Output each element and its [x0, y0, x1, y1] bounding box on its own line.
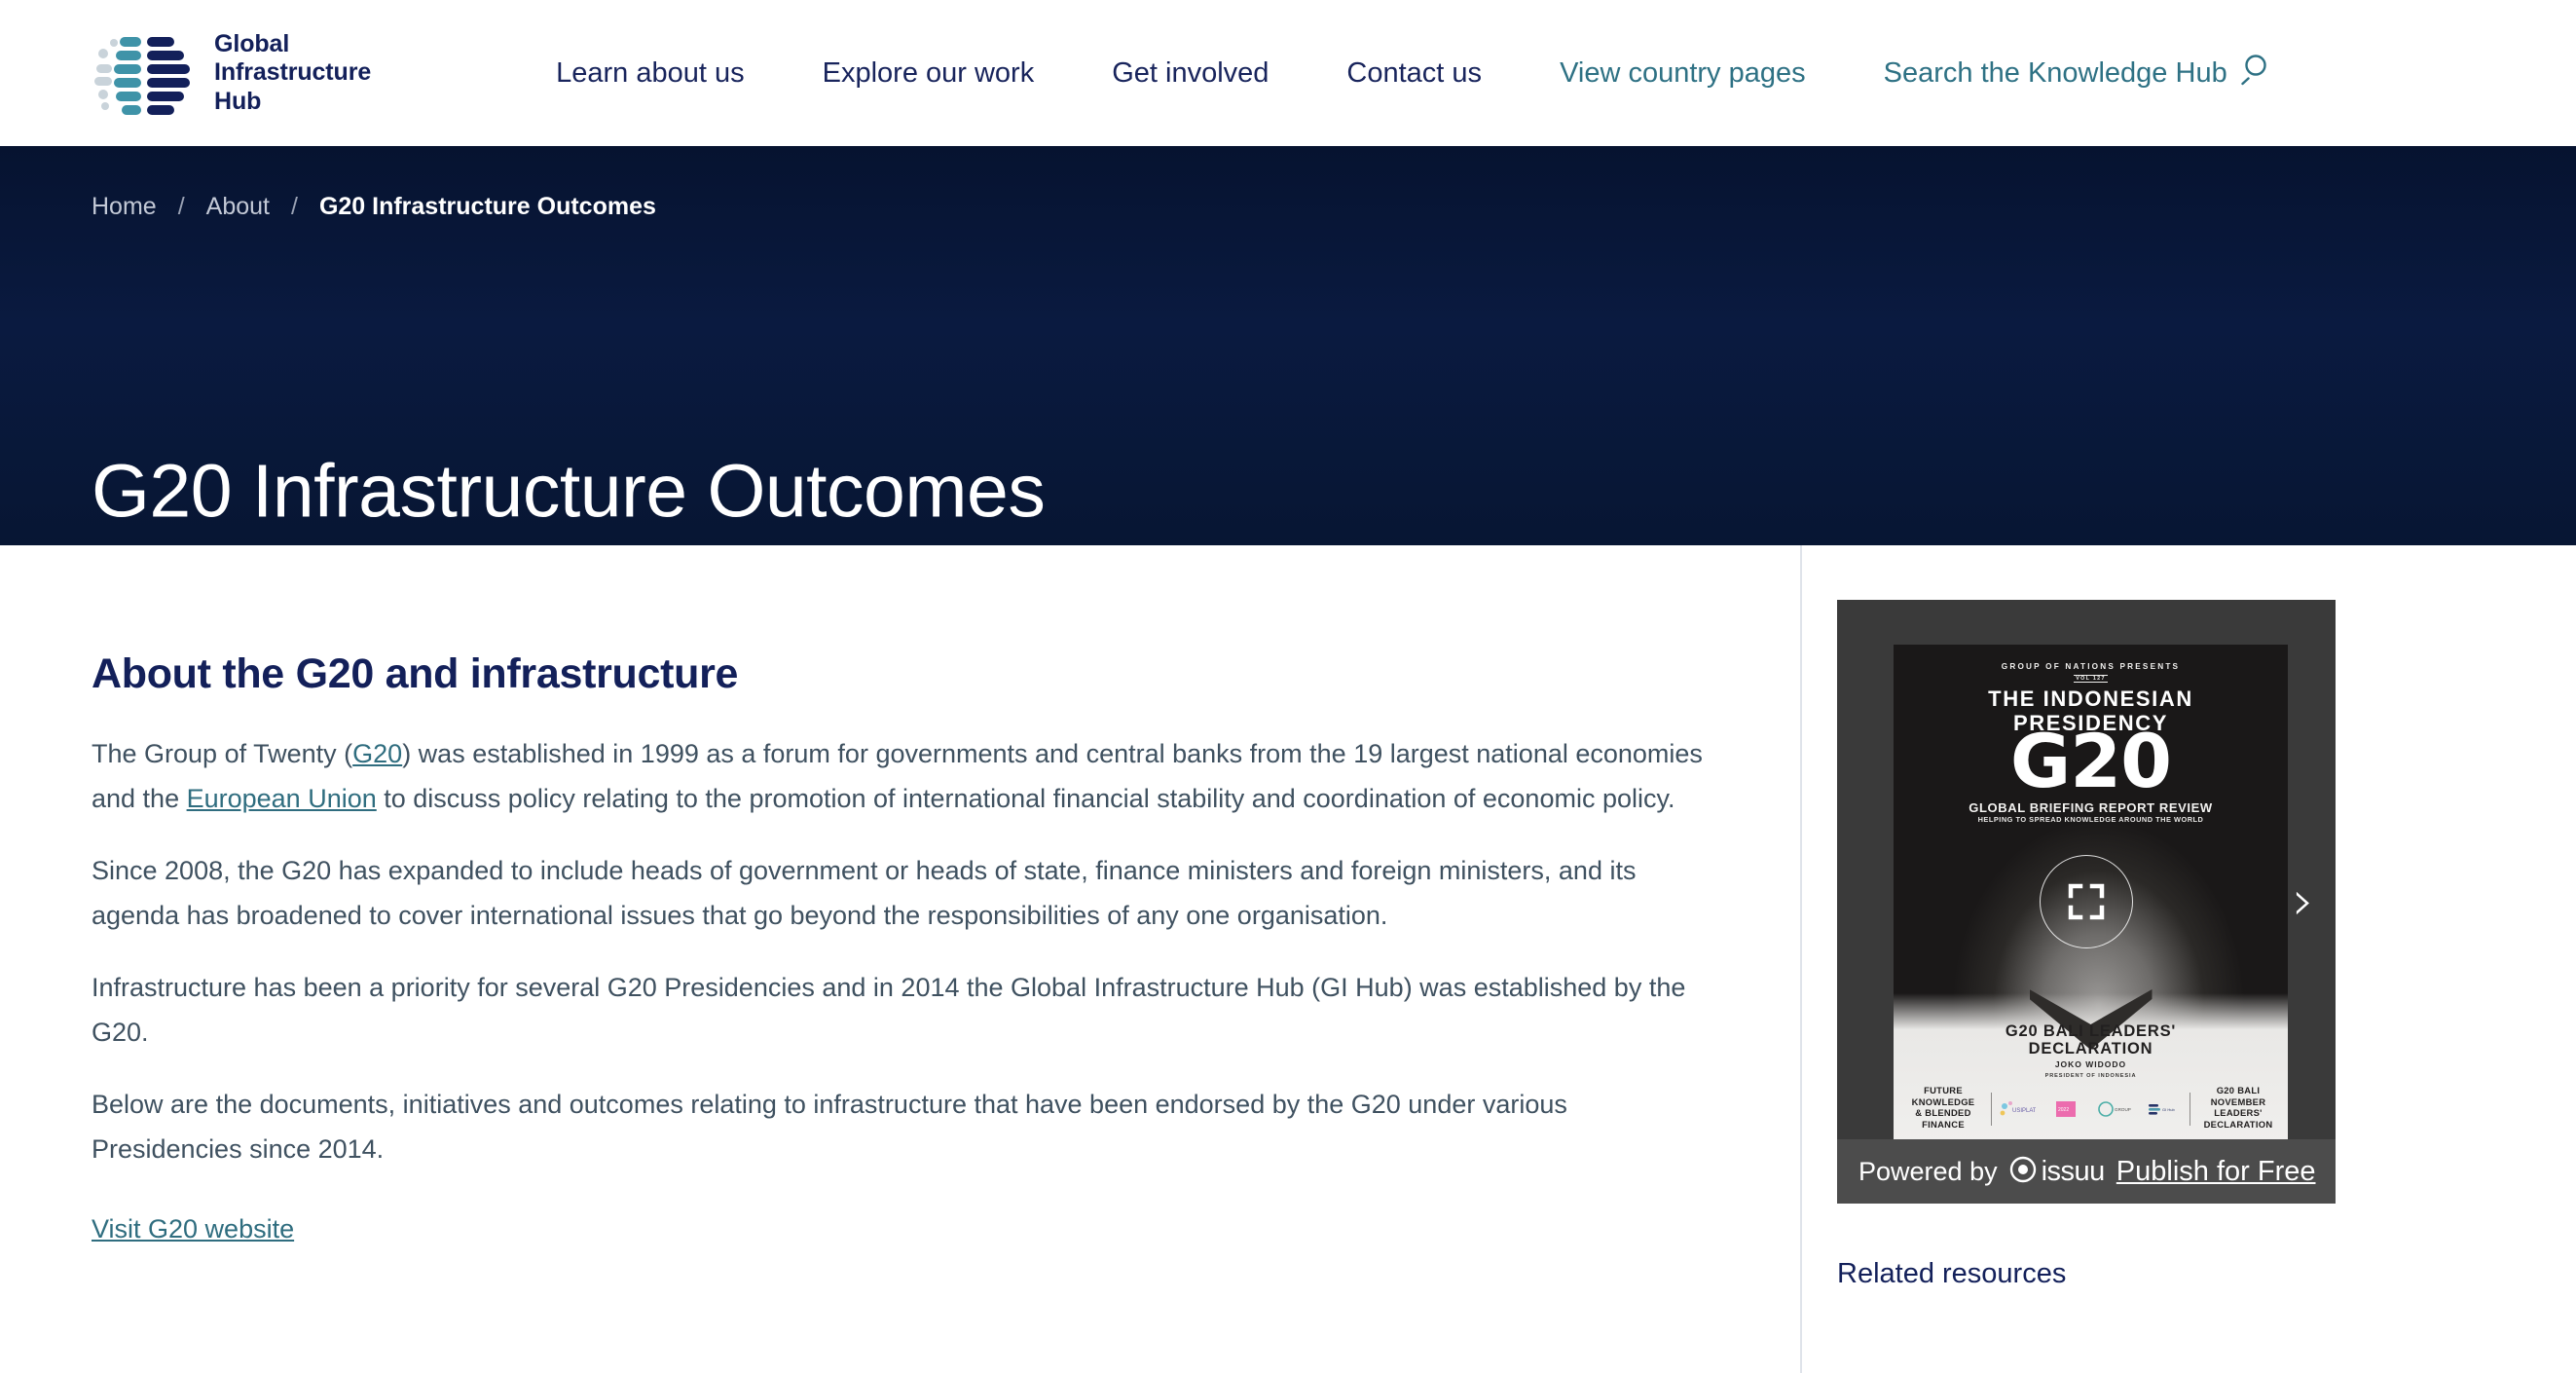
paragraph-2: Since 2008, the G20 has expanded to incl… — [92, 848, 1709, 939]
nav-item-learn-about-us[interactable]: Learn about us — [517, 57, 783, 90]
cover-g20-logotype: G20 — [1894, 730, 2288, 794]
main-column: About the G20 and infrastructure The Gro… — [0, 545, 1802, 1373]
brand-name: Global Infrastructure Hub — [214, 30, 371, 117]
breadcrumb-item-current: G20 Infrastructure Outcomes — [319, 193, 656, 221]
european-union-link[interactable]: European Union — [187, 784, 377, 813]
search-icon — [2241, 53, 2274, 93]
svg-text:USIPLAT: USIPLAT — [2012, 1108, 2036, 1114]
cover-right-tag: G20 BALI NOVEMBER LEADERS' DECLARATION — [2196, 1085, 2280, 1130]
breadcrumb-separator: / — [291, 193, 298, 221]
cover-partner-logos: USIPLAT 2022 GROUP GI Hub — [1991, 1093, 2190, 1126]
svg-text:GROUP: GROUP — [2115, 1107, 2131, 1112]
powered-by-label: Powered by — [1858, 1157, 1998, 1187]
fullscreen-icon[interactable] — [2040, 855, 2133, 948]
cover-tagline: HELPING TO SPREAD KNOWLEDGE AROUND THE W… — [1894, 815, 2288, 824]
svg-text:GI Hub: GI Hub — [2162, 1107, 2175, 1112]
svg-text:2022: 2022 — [2058, 1107, 2069, 1113]
visit-g20-website-link[interactable]: Visit G20 website — [92, 1214, 294, 1244]
paragraph-4: Below are the documents, initiatives and… — [92, 1082, 1709, 1172]
paragraph-1-part-1: The Group of Twenty ( — [92, 739, 352, 768]
breadcrumb: Home / About / G20 Infrastructure Outcom… — [92, 146, 2484, 221]
brand-logo-link[interactable]: Global Infrastructure Hub — [92, 28, 371, 118]
search-label: Search the Knowledge Hub — [1884, 57, 2227, 90]
nav-item-explore-our-work[interactable]: Explore our work — [784, 57, 1074, 90]
breadcrumb-item-about[interactable]: About — [206, 193, 270, 221]
nav-item-search-knowledge-hub[interactable]: Search the Knowledge Hub — [1845, 53, 2274, 93]
issuu-embed[interactable]: GROUP OF NATIONS PRESENTS VOL 127 THE IN… — [1837, 600, 2336, 1204]
breadcrumb-separator: / — [178, 193, 185, 221]
issuu-target-icon — [2009, 1156, 2037, 1188]
nav-item-get-involved[interactable]: Get involved — [1073, 57, 1307, 90]
nav-item-view-country-pages[interactable]: View country pages — [1521, 57, 1845, 90]
summit-logo-icon: 2022 — [2046, 1098, 2085, 1120]
breadcrumb-item-home[interactable]: Home — [92, 193, 157, 221]
cover-person-name: JOKO WIDODO — [1894, 1059, 2288, 1069]
issuu-footer-bar: Powered by issuu Publish for Free — [1837, 1139, 2336, 1204]
paragraph-1: The Group of Twenty (G20) was establishe… — [92, 731, 1709, 822]
cover-left-tag: FUTURE KNOWLEDGE & BLENDED FINANCE — [1901, 1085, 1985, 1130]
cover-subtitle: GLOBAL BRIEFING REPORT REVIEW — [1894, 800, 2288, 815]
cover-kicker: GROUP OF NATIONS PRESENTS — [1894, 662, 2288, 671]
page-title: G20 Infrastructure Outcomes — [92, 453, 1045, 532]
gi-hub-logo-icon: GI Hub — [2146, 1098, 2185, 1120]
site-header: Global Infrastructure Hub Learn about us… — [0, 0, 2576, 146]
paragraph-3: Infrastructure has been a priority for s… — [92, 965, 1709, 1056]
page-content: About the G20 and infrastructure The Gro… — [0, 545, 2576, 1373]
gi-hub-dots-logo-icon — [92, 28, 197, 118]
nav-item-contact-us[interactable]: Contact us — [1307, 57, 1521, 90]
issuu-wordmark: issuu — [2042, 1156, 2105, 1188]
main-navigation: Learn about us Explore our work Get invo… — [517, 53, 2274, 93]
g20-link[interactable]: G20 — [352, 739, 402, 768]
publish-for-free-link[interactable]: Publish for Free — [2116, 1156, 2316, 1188]
group-of-nations-logo-icon: GROUP — [2096, 1098, 2135, 1120]
page-hero: Home / About / G20 Infrastructure Outcom… — [0, 146, 2576, 545]
section-heading: About the G20 and infrastructure — [92, 650, 1709, 698]
usiplat-logo-icon: USIPLAT — [1997, 1098, 2036, 1120]
chevron-right-icon[interactable]: › — [2293, 874, 2314, 929]
cover-person-role: PRESIDENT OF INDONESIA — [1894, 1073, 2288, 1079]
sidebar: GROUP OF NATIONS PRESENTS VOL 127 THE IN… — [1802, 545, 2576, 1373]
related-resources-heading: Related resources — [1837, 1258, 2576, 1290]
issuu-brand[interactable]: issuu — [2009, 1156, 2105, 1188]
cover-declaration: G20 BALI LEADERS' DECLARATION — [1894, 1022, 2288, 1058]
paragraph-1-part-3: to discuss policy relating to the promot… — [377, 784, 1675, 813]
cover-volume: VOL 127 — [1894, 676, 2288, 682]
